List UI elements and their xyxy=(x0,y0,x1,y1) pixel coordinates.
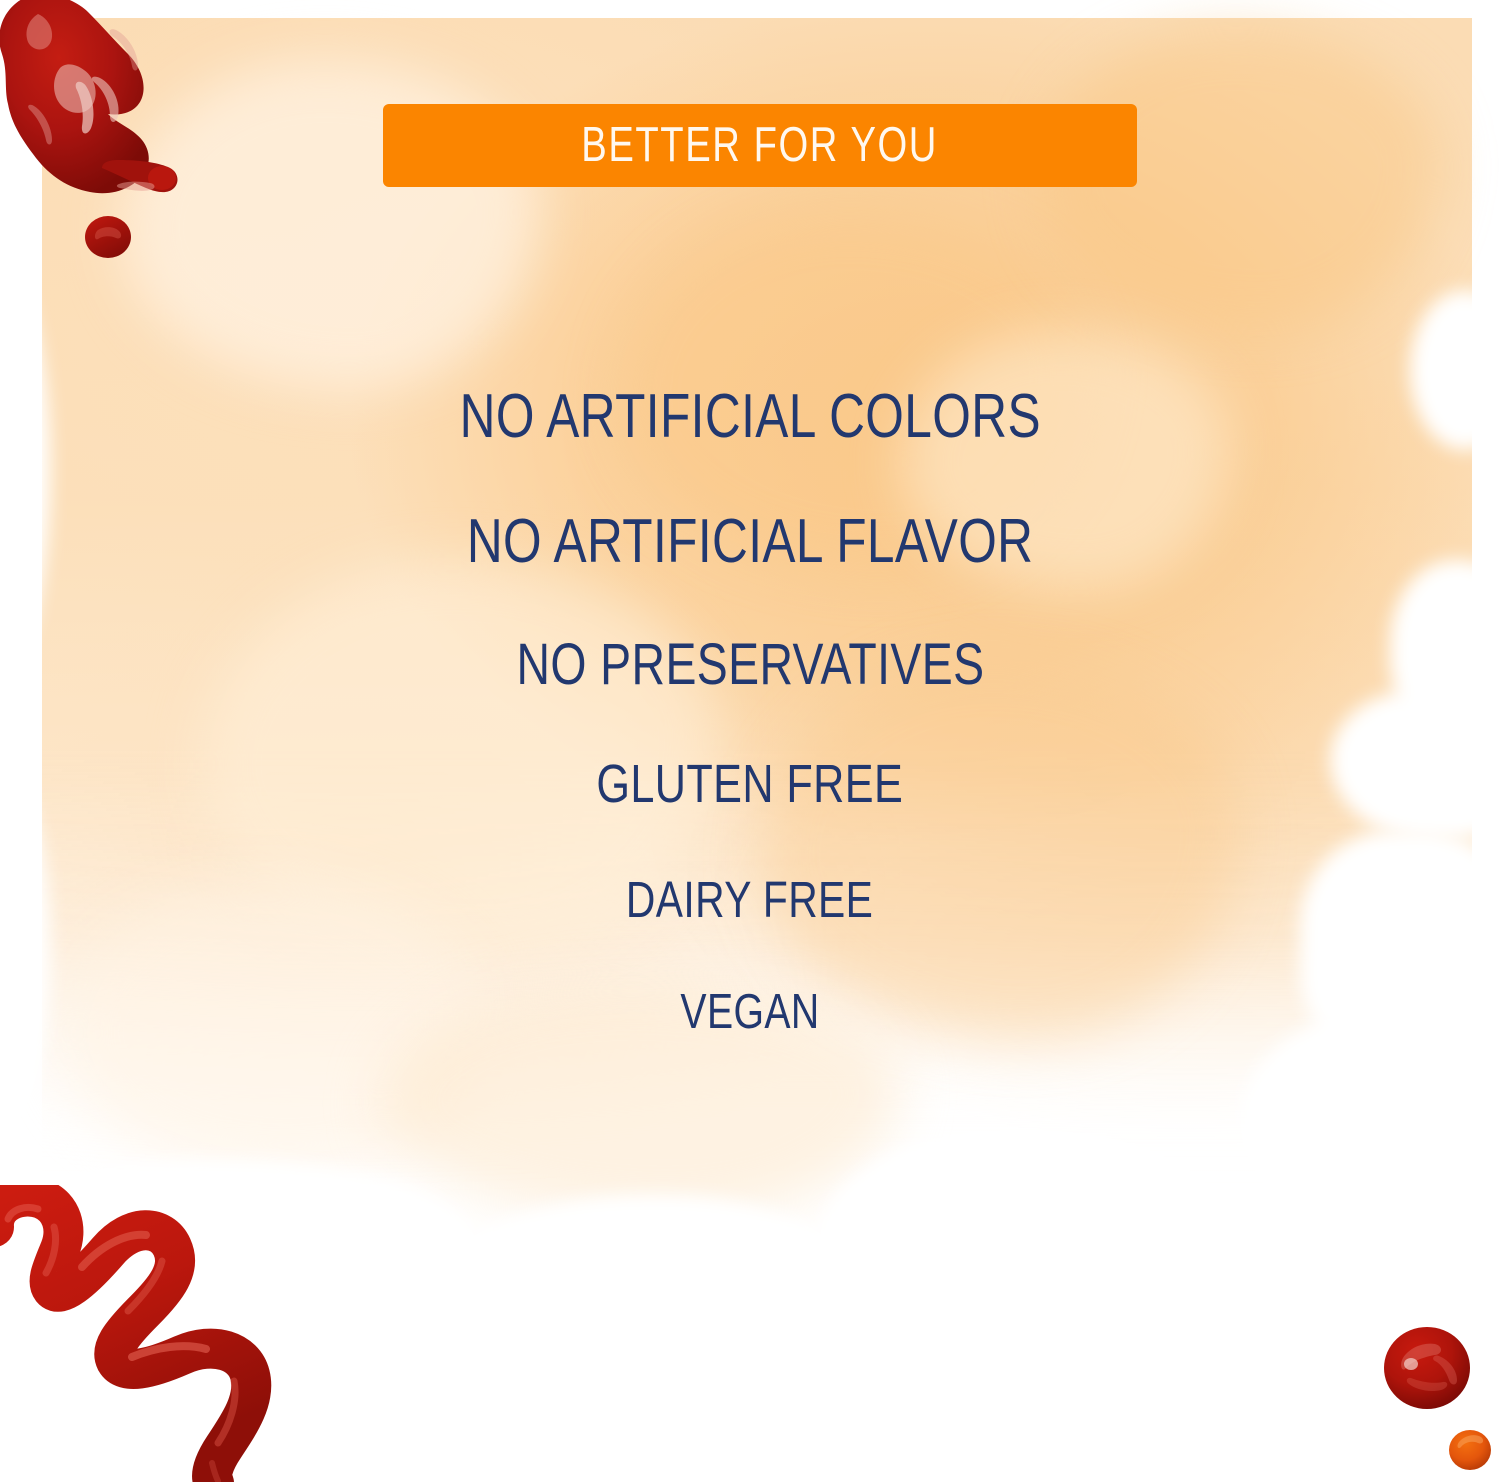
wash-edge-notch-bottom-3 xyxy=(820,1130,1240,1370)
claim-item: NO ARTIFICIAL FLAVOR xyxy=(0,511,1500,573)
claim-label: VEGAN xyxy=(680,988,819,1037)
wash-edge-notch-bottom-2 xyxy=(430,1195,860,1395)
ketchup-squiggle-bottom-left-icon xyxy=(0,1185,286,1482)
better-for-you-banner: BETTER FOR YOU xyxy=(383,104,1137,187)
claim-label: NO ARTIFICIAL FLAVOR xyxy=(467,511,1034,573)
banner-title: BETTER FOR YOU xyxy=(582,121,939,170)
claim-label: NO PRESERVATIVES xyxy=(516,636,984,694)
claim-item: NO PRESERVATIVES xyxy=(0,636,1500,694)
claim-label: DAIRY FREE xyxy=(626,874,873,925)
claim-label: GLUTEN FREE xyxy=(597,757,904,811)
claims-list: NO ARTIFICIAL COLORS NO ARTIFICIAL FLAVO… xyxy=(0,386,1500,1037)
better-for-you-graphic: BETTER FOR YOU NO ARTIFICIAL COLORS NO A… xyxy=(0,0,1500,1482)
claim-item: NO ARTIFICIAL COLORS xyxy=(0,386,1500,448)
wash-edge-notch-right-3 xyxy=(1240,1010,1500,1240)
claim-item: VEGAN xyxy=(0,988,1500,1037)
claim-label: NO ARTIFICIAL COLORS xyxy=(459,386,1040,448)
ketchup-drops-bottom-right-icon xyxy=(1375,1320,1500,1482)
ketchup-blob-top-left-icon xyxy=(0,0,220,272)
wash-edge-notch-bottom-1 xyxy=(0,1160,480,1360)
claim-item: DAIRY FREE xyxy=(0,874,1500,925)
claim-item: GLUTEN FREE xyxy=(0,757,1500,811)
